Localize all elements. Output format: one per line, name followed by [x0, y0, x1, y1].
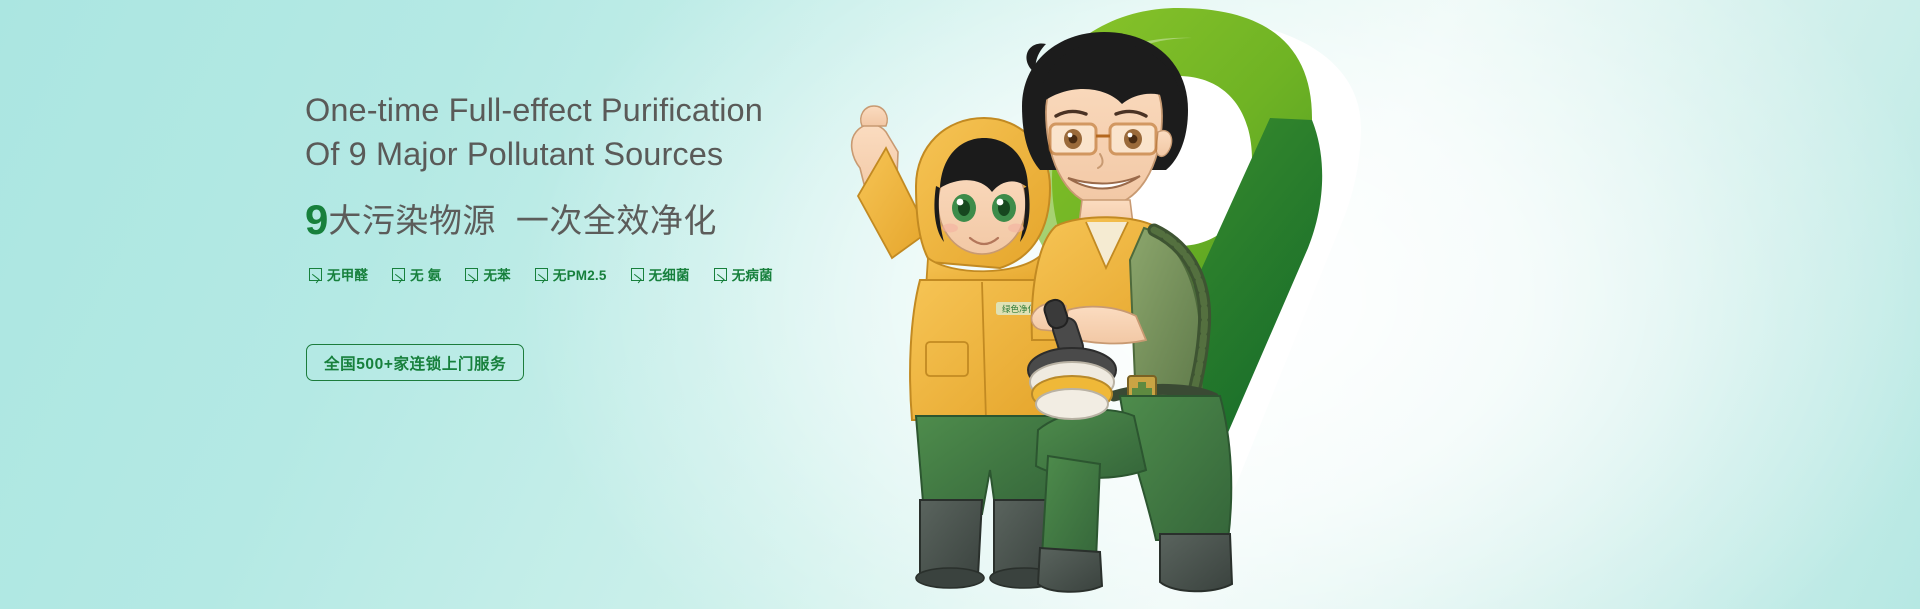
- headline-chinese-part-1: 大污染物源: [328, 202, 496, 239]
- feature-label: 无病菌: [732, 264, 773, 284]
- feature-label: 无细菌: [649, 264, 690, 284]
- check-box-icon: [465, 268, 478, 281]
- hero-illustration: 绿色净化: [800, 0, 1400, 609]
- child-technician-figure: 绿色净化: [852, 106, 1060, 588]
- feature-item-ammonia: 无 氨: [392, 264, 441, 284]
- nationwide-service-button[interactable]: 全国500+家连锁上门服务: [306, 344, 524, 381]
- feature-item-pathogens: 无病菌: [714, 264, 773, 284]
- check-box-icon: [535, 268, 548, 281]
- check-box-icon: [631, 268, 644, 281]
- headline-chinese-number: 9: [305, 196, 328, 243]
- feature-label: 无PM2.5: [553, 264, 607, 284]
- feature-label: 无苯: [483, 264, 510, 284]
- feature-label: 无 氨: [410, 264, 441, 284]
- feature-item-pm25: 无PM2.5: [535, 264, 607, 284]
- check-box-icon: [309, 268, 322, 281]
- feature-list: 无甲醛 无 氨 无苯 无PM2.5 无细菌 无病菌: [309, 264, 773, 284]
- check-box-icon: [392, 268, 405, 281]
- feature-item-formaldehyde: 无甲醛: [309, 264, 368, 284]
- feature-item-benzene: 无苯: [465, 264, 510, 284]
- headline-chinese-part-2: 一次全效净化: [516, 202, 717, 239]
- feature-item-bacteria: 无细菌: [631, 264, 690, 284]
- feature-label: 无甲醛: [327, 264, 368, 284]
- promo-banner: One-time Full-effect Purification Of 9 M…: [0, 0, 1920, 609]
- check-box-icon: [714, 268, 727, 281]
